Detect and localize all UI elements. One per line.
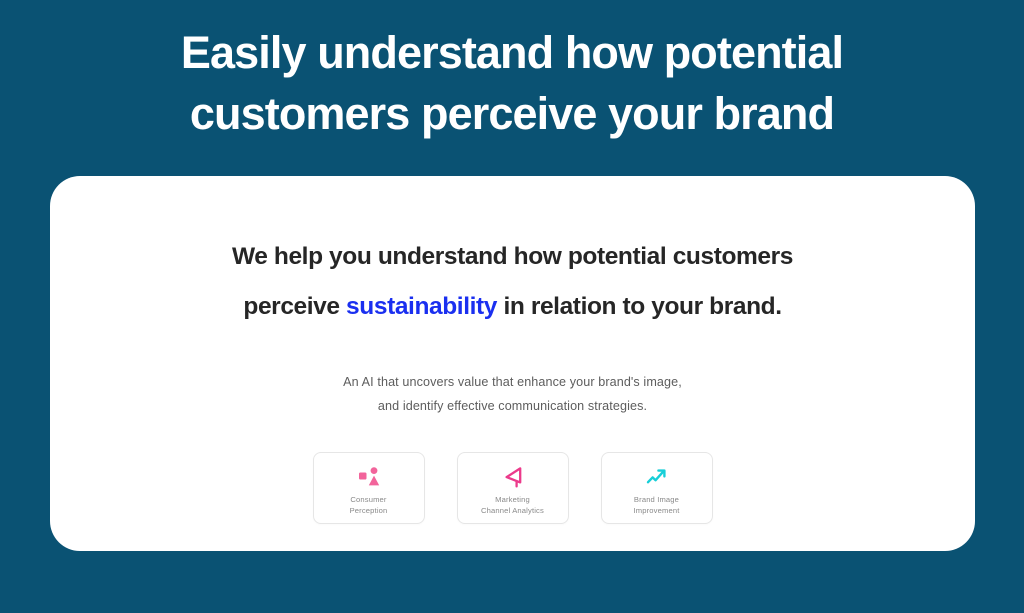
feature-label-marketing-channel-analytics: Marketing Channel Analytics [481, 495, 544, 516]
page-title: Easily understand how potential customer… [0, 22, 1024, 144]
feature-card-consumer-perception[interactable]: Consumer Perception [313, 452, 425, 524]
lead-line-1: We help you understand how potential cus… [50, 232, 975, 282]
sustainability-highlight: sustainability [346, 293, 497, 320]
lead-paragraph: We help you understand how potential cus… [50, 232, 975, 332]
feature-label-brand-image-improvement: Brand Image Improvement [634, 495, 680, 516]
trending-up-arrow-icon [644, 464, 670, 490]
feature-card-marketing-channel-analytics[interactable]: Marketing Channel Analytics [457, 452, 569, 524]
feature-card-row: Consumer Perception Marketing Channel An… [50, 452, 975, 524]
consumer-perception-icon [356, 464, 382, 490]
lead-line-2: perceive sustainability in relation to y… [50, 282, 975, 332]
subtext-line-1: An AI that uncovers value that enhance y… [50, 370, 975, 394]
feature-label-consumer-perception: Consumer Perception [350, 495, 388, 516]
page-title-line-2: customers perceive your brand [90, 83, 934, 144]
lead-line-2-suffix: in relation to your brand. [497, 293, 782, 320]
megaphone-icon [500, 464, 526, 490]
page-root: Easily understand how potential customer… [0, 0, 1024, 613]
subtext-line-2: and identify effective communication str… [50, 394, 975, 418]
lead-line-2-prefix: perceive [243, 293, 346, 320]
page-title-line-1: Easily understand how potential [90, 22, 934, 83]
subtext-paragraph: An AI that uncovers value that enhance y… [50, 370, 975, 418]
content-card: We help you understand how potential cus… [50, 176, 975, 551]
feature-card-brand-image-improvement[interactable]: Brand Image Improvement [601, 452, 713, 524]
